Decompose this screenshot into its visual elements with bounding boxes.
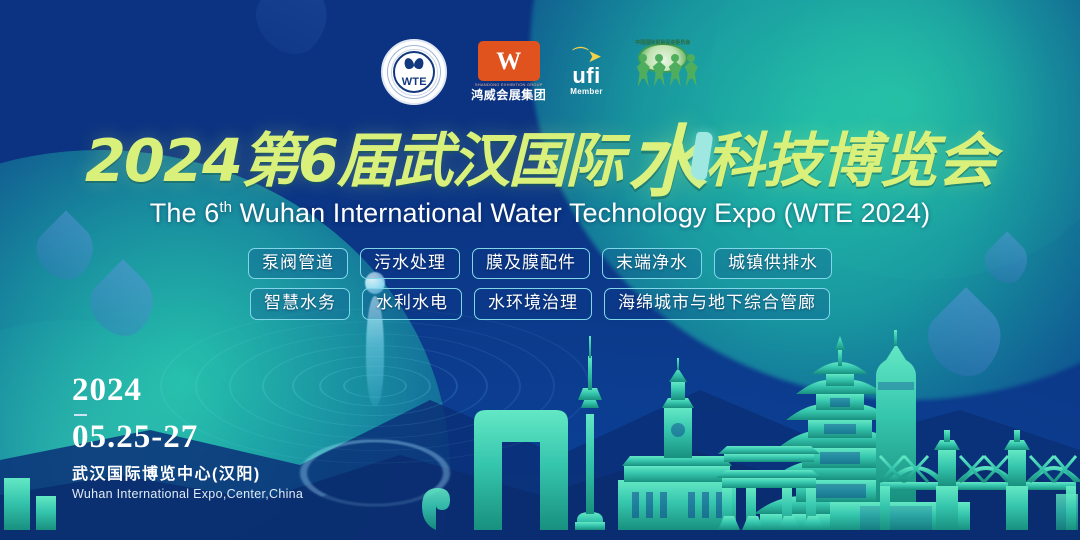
event-year: 2024 [72, 374, 303, 407]
hongwei-w-glyph: W [496, 49, 521, 74]
wte-logo[interactable]: WTE [381, 39, 447, 105]
subtitle-ordinal: th [219, 199, 232, 216]
association-ring-text: 中国国际贸易促进委员会 [635, 39, 690, 46]
hongwei-mark-icon: W [478, 41, 540, 81]
venue-name-english: Wuhan International Expo,Center,China [72, 487, 303, 502]
water-character-glyph: 水 [627, 124, 704, 202]
hongwei-exhibition-group-logo[interactable]: W SHANDONG EXHIBITION GROUP 鸿威会展集团 [471, 41, 546, 102]
topic-tags-row-1: 泵阀管道 污水处理 膜及膜配件 末端净水 城镇供排水 [0, 248, 1080, 279]
association-logo[interactable]: 中国国际贸易促进委员会 [627, 41, 699, 103]
venue-name-chinese: 武汉国际博览中心(汉阳) [72, 465, 303, 484]
english-subtitle: The 6th Wuhan International Water Techno… [0, 198, 1080, 229]
two-water-drops-icon [405, 58, 424, 69]
date-divider [74, 414, 87, 416]
event-date-venue-block: 2024 05.25-27 武汉国际博览中心(汉阳) Wuhan Interna… [72, 374, 303, 502]
association-people-figures [636, 54, 699, 90]
sponsor-logo-row: WTE W SHANDONG EXHIBITION GROUP 鸿威会展集团 ⏜… [0, 36, 1080, 108]
topic-tag-terminal-water-purification[interactable]: 末端净水 [602, 248, 702, 279]
ufi-logo-text: ufi [572, 66, 600, 87]
main-title: 2024第6届武汉国际水科技博览会 [85, 121, 995, 199]
wte-logo-inner: WTE [393, 51, 435, 93]
topic-tag-water-conservancy-hydropower[interactable]: 水利水电 [362, 288, 462, 319]
hongwei-logo-chinese: 鸿威会展集团 [471, 89, 546, 102]
hongwei-logo-english: SHANDONG EXHIBITION GROUP [475, 83, 543, 87]
subtitle-rest: Wuhan International Water Technology Exp… [232, 198, 930, 228]
main-title-part3: 科技博览会 [705, 131, 995, 190]
subtitle-prefix: The 6 [150, 198, 220, 228]
topic-tag-smart-water[interactable]: 智慧水务 [250, 288, 350, 319]
headline-container: 2024第6届武汉国际水科技博览会 [0, 120, 1080, 200]
topic-tag-pumps-valves-pipes[interactable]: 泵阀管道 [248, 248, 348, 279]
main-title-part2: 际 [565, 131, 623, 190]
banner-poster: WTE W SHANDONG EXHIBITION GROUP 鸿威会展集团 ⏜… [0, 0, 1080, 540]
topic-tag-water-environment-governance[interactable]: 水环境治理 [474, 288, 592, 319]
topic-tags: 泵阀管道 污水处理 膜及膜配件 末端净水 城镇供排水 智慧水务 水利水电 水环境… [0, 248, 1080, 329]
topic-tags-row-2: 智慧水务 水利水电 水环境治理 海绵城市与地下综合管廊 [0, 288, 1080, 319]
wte-logo-text: WTE [402, 77, 427, 88]
topic-tag-sponge-city-utility-tunnel[interactable]: 海绵城市与地下综合管廊 [604, 288, 830, 319]
event-dates: 05.25-27 [72, 421, 303, 454]
topic-tag-membranes[interactable]: 膜及膜配件 [472, 248, 590, 279]
ufi-member-label: Member [570, 88, 602, 96]
topic-tag-urban-water-supply-drainage[interactable]: 城镇供排水 [714, 248, 832, 279]
ufi-member-logo[interactable]: ⏜➤ ufi Member [570, 48, 602, 96]
topic-tag-sewage-treatment[interactable]: 污水处理 [360, 248, 460, 279]
main-title-part1: 2024第6届武汉国 [85, 131, 565, 190]
